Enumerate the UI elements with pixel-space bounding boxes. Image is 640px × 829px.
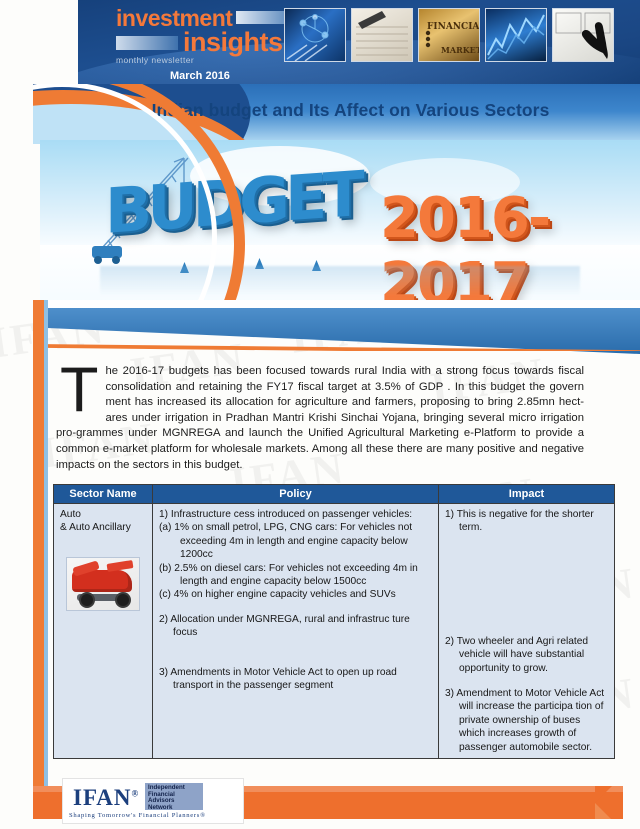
ifan-wordmark: IFAN® xyxy=(73,785,139,811)
policy-item: (b) 2.5% on diesel cars: For vehicles no… xyxy=(159,562,432,589)
policy-item: 2) Allocation under MGNREGA, rural and i… xyxy=(159,613,432,640)
left-blue-line xyxy=(44,300,48,805)
column-header-policy: Policy xyxy=(153,485,439,504)
impact-spacer xyxy=(445,675,608,687)
brand-logo: investment insights monthly newsletter M… xyxy=(78,6,308,82)
orange-wedge-line xyxy=(33,344,640,351)
logo-line2-wrap: insights xyxy=(78,28,308,56)
car-wheel-shape xyxy=(115,592,131,608)
red-car-parts-image xyxy=(66,557,140,611)
sector-name-line2: & Auto Ancillary xyxy=(60,522,131,533)
sector-impact-table: Sector Name Policy Impact Auto & Auto An… xyxy=(53,484,615,759)
impact-item: 1) This is negative for the shorter term… xyxy=(445,508,608,535)
sector-name-line1: Auto xyxy=(60,509,81,520)
article-paragraph: he 2016-17 budgets has been focused towa… xyxy=(56,365,584,471)
ifan-tagline: Shaping Tomorrow's Financial Planners® xyxy=(69,812,206,819)
stock-chart-icon xyxy=(486,9,546,61)
ifan-text: IFAN xyxy=(73,785,132,810)
car-wheel-shape xyxy=(79,592,95,608)
cell-policy: 1) Infrastructure cess introduced on pas… xyxy=(153,504,439,759)
policy-item: 3) Amendments in Motor Vehicle Act to op… xyxy=(159,666,432,693)
svg-text:MARKET: MARKET xyxy=(441,45,479,55)
article-body: The 2016-17 budgets has been focused tow… xyxy=(56,364,584,473)
page-title: Indian budget and Its Affect on Various … xyxy=(33,100,640,121)
pen-on-ledger-image xyxy=(351,8,413,62)
table-header-row: Sector Name Policy Impact xyxy=(54,485,615,504)
column-header-sector-name: Sector Name xyxy=(54,485,153,504)
cell-impact: 1) This is negative for the shorter term… xyxy=(439,504,615,759)
blue-stock-chart-image xyxy=(485,8,547,62)
network-globe-image xyxy=(284,8,346,62)
ifan-logo: IFAN® Independent Financial Advisors Net… xyxy=(62,778,244,824)
newsletter-page: IFAN IFAN IFAN IFAN IFAN IFAN IFAN IFAN … xyxy=(0,0,640,829)
impact-spacer xyxy=(445,535,608,635)
hero-reflection xyxy=(100,266,580,296)
white-separator xyxy=(33,300,640,308)
left-orange-bar xyxy=(33,300,44,805)
impact-item: 3) Amendment to Motor Vehicle Act will i… xyxy=(445,687,608,754)
policy-item: 1) Infrastructure cess introduced on pas… xyxy=(159,508,432,521)
header-thumbnail-strip: FINANCIAL MARKET xyxy=(284,8,614,62)
table-row: Auto & Auto Ancillary 1) Infrastructure … xyxy=(54,504,615,759)
hand-pointing-at-chart-image xyxy=(552,8,614,62)
svg-text:FINANCIAL: FINANCIAL xyxy=(427,22,479,32)
column-header-impact: Impact xyxy=(439,485,615,504)
policy-spacer xyxy=(159,602,432,613)
newsletter-header: investment insights monthly newsletter M… xyxy=(78,0,640,92)
network-globe-icon xyxy=(285,9,345,61)
footer-fold-top xyxy=(595,786,612,803)
pen-ledger-icon xyxy=(352,9,412,61)
car-wing-shape xyxy=(107,560,134,572)
budget-hero-image: BUDGET 2016-2017 xyxy=(40,140,640,308)
drop-cap: T xyxy=(60,364,98,416)
impact-item: 2) Two wheeler and Agri related vehicle … xyxy=(445,635,608,675)
financial-notebook-icon: FINANCIAL MARKET xyxy=(419,9,479,61)
financial-market-notebook-image: FINANCIAL MARKET xyxy=(418,8,480,62)
article-title-banner: Indian budget and Its Affect on Various … xyxy=(33,84,640,144)
policy-item: (a) 1% on small petrol, LPG, CNG cars: F… xyxy=(159,521,432,561)
footer-fold-bottom xyxy=(595,803,611,819)
policy-item: (c) 4% on higher engine capacity vehicle… xyxy=(159,588,432,601)
logo-bar-icon xyxy=(116,36,178,50)
ifan-trademark: ® xyxy=(132,788,140,798)
cell-sector-name: Auto & Auto Ancillary xyxy=(54,504,153,759)
logo-line2: insights xyxy=(183,27,283,57)
ifan-badge: Independent Financial Advisors Network xyxy=(145,783,203,810)
hand-chart-icon xyxy=(553,9,613,61)
policy-spacer xyxy=(159,640,432,666)
issue-date: March 2016 xyxy=(78,70,308,82)
